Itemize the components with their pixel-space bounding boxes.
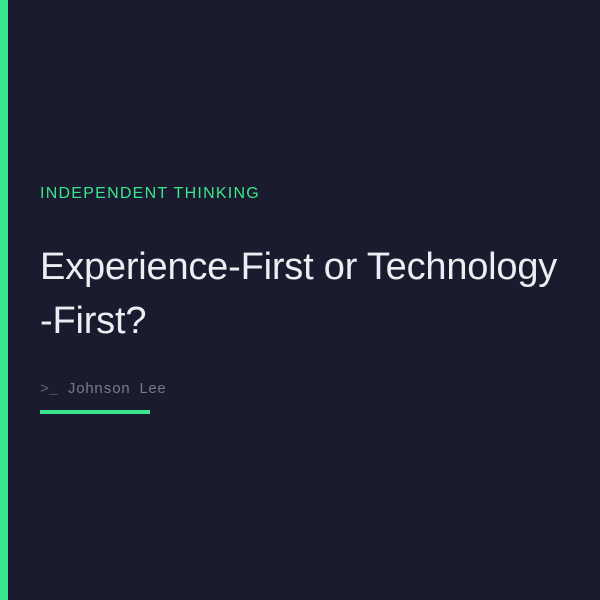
author-name [58,381,67,398]
author-name-text: Johnson Lee [67,381,166,398]
category-eyebrow: INDEPENDENT THINKING [40,186,260,202]
author-byline: >_ Johnson Lee [40,382,166,397]
byline-underline [40,410,150,414]
article-title: Experience-First or Technology-First? [40,240,563,348]
left-accent-bar [0,0,8,600]
byline-group: >_ Johnson Lee [40,382,166,414]
article-card: INDEPENDENT THINKING Experience-First or… [0,0,600,600]
terminal-prompt-icon: >_ [40,381,58,398]
card-content: INDEPENDENT THINKING Experience-First or… [40,0,560,600]
